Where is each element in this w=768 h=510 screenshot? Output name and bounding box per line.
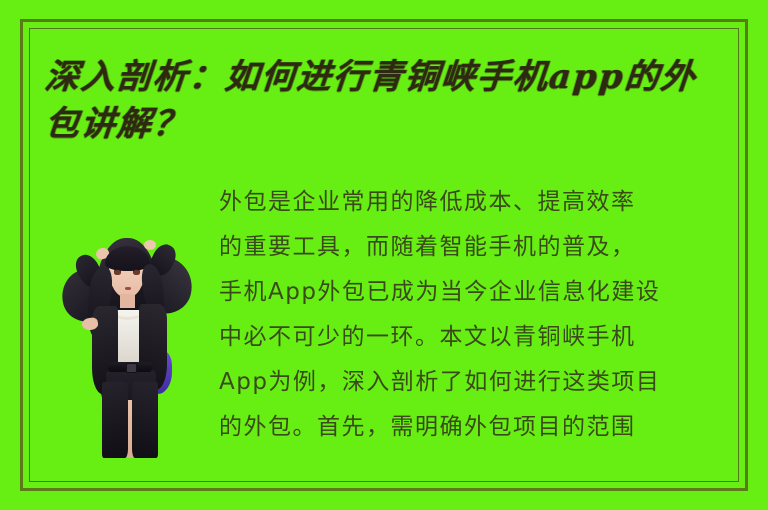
poster-canvas: 深入剖析：如何进行青铜峡手机app的外 包讲解？ 外包是企业常用的降低成本、 <box>0 0 768 510</box>
illustration-skirt-panel-right <box>132 382 158 458</box>
article-body-line: 手机App外包已成为当今企业信息化建设 <box>219 270 729 315</box>
article-body: 外包是企业常用的降低成本、提高效率 的重要工具，而随着智能手机的普及， 手机Ap… <box>219 180 729 450</box>
illustration-anime-woman <box>52 232 202 457</box>
illustration-belt-buckle <box>126 363 137 373</box>
illustration-hand-right <box>144 240 156 250</box>
illustration-eye-right <box>133 270 140 275</box>
article-body-line: App为例，深入剖析了如何进行这类项目 <box>219 360 729 405</box>
article-body-line: 中必不可少的一环。本文以青铜峡手机 <box>219 315 729 360</box>
article-body-line: 的重要工具，而随着智能手机的普及， <box>219 225 729 270</box>
page-title-line-2: 包讲解？ <box>43 101 727 148</box>
illustration-eye-left <box>114 270 121 275</box>
article-body-line: 的外包。首先，需明确外包项目的范围 <box>219 405 729 450</box>
article-body-line: 外包是企业常用的降低成本、提高效率 <box>219 180 729 225</box>
page-title: 深入剖析：如何进行青铜峡手机app的外 包讲解？ <box>47 54 727 148</box>
illustration-mouth <box>125 287 131 290</box>
page-title-line-1: 深入剖析：如何进行青铜峡手机app的外 <box>43 54 727 101</box>
illustration-skirt-panel-left <box>102 382 128 458</box>
